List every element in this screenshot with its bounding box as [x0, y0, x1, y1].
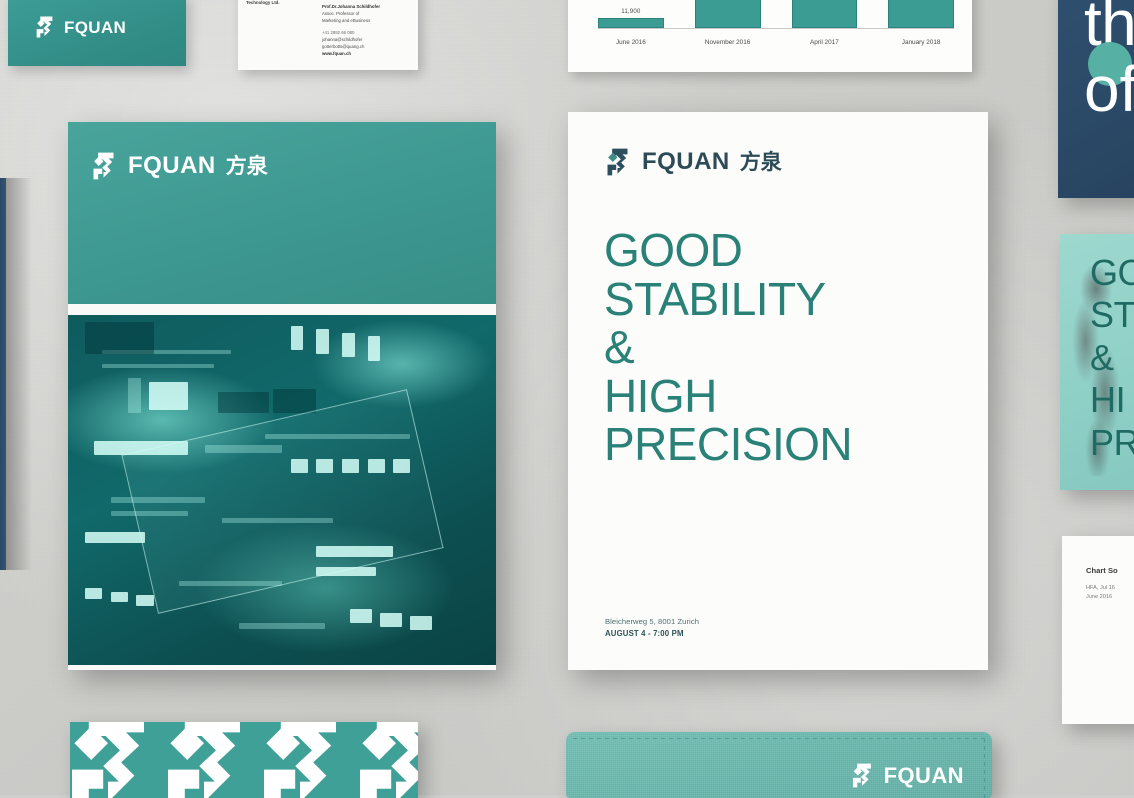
chart-bar: [888, 0, 954, 28]
fquan-logo-mark-icon: [252, 722, 348, 798]
document-subtitle-line: HFA, Jul 16: [1086, 584, 1115, 593]
stitch-line-top: [573, 738, 985, 739]
stitch-line-right: [984, 738, 985, 798]
chart-column: 34,000: [695, 0, 761, 28]
chart-column: [888, 0, 954, 28]
business-card-company: Technology Ltd.: [246, 0, 280, 7]
poster-date: AUGUST 4 - 7:00 PM: [605, 629, 699, 638]
chart-category-label: April 2017: [792, 39, 858, 46]
logo-pattern-repeat: [70, 722, 418, 798]
logo-wordmark: FQUAN: [884, 765, 964, 787]
business-card-details: Prof.Dr.Johanna Schildhofer Assoc. Profe…: [322, 4, 380, 58]
fquan-logo-mark-icon: [348, 722, 418, 798]
poster-address: Bleicherweg 5, 8001 Zurich: [605, 616, 699, 627]
business-card-website: www.fquan.ch: [322, 51, 380, 58]
chart-bar: [598, 18, 664, 28]
logo-wordmark-cn: 方泉: [740, 152, 782, 173]
teal-poster-headline-line: GO: [1090, 252, 1134, 294]
bar-chart: 11,900 34,000 June 2016 November 2016 Ap…: [598, 0, 954, 50]
document-subtitle: HFA, Jul 16 June 2016: [1086, 584, 1115, 602]
teal-poster-headline-line: ST: [1090, 294, 1134, 336]
poster-footer: Bleicherweg 5, 8001 Zurich AUGUST 4 - 7:…: [605, 616, 699, 638]
logo-wordmark-cn: 方泉: [226, 156, 268, 177]
brochure-header-band: [68, 122, 496, 304]
logo-lockup: FQUAN: [850, 763, 964, 788]
poster-headline-line: GOOD: [604, 226, 966, 275]
navy-edge-panel: [0, 178, 6, 570]
navy-poster-panel: th of: [1058, 0, 1134, 198]
chart-category-label: January 2018: [888, 39, 954, 46]
chart-column: 11,900: [598, 0, 664, 28]
chart-report-sheet: 11,900 34,000 June 2016 November 2016 Ap…: [568, 0, 972, 72]
navy-panel-line-2: of: [1084, 62, 1134, 117]
chart-category-label: November 2016: [695, 39, 761, 46]
logo-wordmark: FQUAN: [128, 154, 216, 178]
poster-headline-line: HIGH: [604, 372, 966, 421]
chart-column: [792, 0, 858, 28]
fquan-logo-mark-icon: [156, 722, 252, 798]
chart-category-label: June 2016: [598, 39, 664, 46]
business-card: Technology Ltd. Prof.Dr.Johanna Schildho…: [238, 0, 418, 70]
poster-headline-line: &: [604, 323, 966, 372]
chart-bar: [792, 0, 858, 28]
business-card-person-title-2: Marketing and eBusiness: [322, 18, 380, 25]
poster-headline: GOOD STABILITY & HIGH PRECISION: [604, 226, 966, 469]
business-card-contact-2: johanna@schildhofer: [322, 37, 380, 44]
event-poster: FQUAN 方泉 GOOD STABILITY & HIGH PRECISION…: [568, 112, 988, 670]
logo-lockup: FQUAN 方泉: [604, 148, 782, 176]
teal-poster-headline-line: HI: [1090, 379, 1134, 421]
business-card-person-title-1: Assoc. Professor of: [322, 11, 380, 18]
brochure-cover: FQUAN 方泉: [68, 122, 496, 670]
logo-wordmark: FQUAN: [64, 19, 126, 36]
fquan-logo-mark-icon: [850, 763, 874, 788]
pattern-card: [70, 722, 418, 798]
teal-poster-headline-line: PR: [1090, 422, 1134, 464]
chart-category-labels: June 2016 November 2016 April 2017 Janua…: [598, 39, 954, 46]
poster-headline-line: STABILITY: [604, 275, 966, 324]
fquan-logo-mark-icon: [604, 148, 631, 176]
teal-poster-variant: GO ST & HI PR: [1060, 234, 1134, 490]
business-card-contact-3: gotterbotts@quang.ch: [322, 44, 380, 51]
teal-poster-headline-line: &: [1090, 337, 1134, 379]
business-card-contact-1: +41 2892 66 080: [322, 30, 380, 37]
poster-headline-line: PRECISION: [604, 420, 966, 469]
teal-poster-headline: GO ST & HI PR: [1090, 252, 1134, 464]
fquan-logo-mark-icon: [34, 16, 55, 38]
fquan-logo-mark-icon: [90, 152, 117, 180]
chart-x-axis-line: [598, 28, 954, 29]
chart-value-label: 11,900: [621, 8, 640, 15]
document-subtitle-line: June 2016: [1086, 593, 1115, 602]
chart-bar: [695, 0, 761, 28]
teal-logo-card: FQUAN: [8, 0, 186, 66]
business-card-person-name: Prof.Dr.Johanna Schildhofer: [322, 4, 380, 11]
chart-plot-area: 11,900 34,000: [598, 0, 954, 28]
teal-fabric-folder: FQUAN: [566, 732, 992, 798]
logo-lockup: FQUAN: [34, 16, 186, 38]
document-title: Chart So: [1086, 566, 1118, 575]
fquan-logo-mark-icon: [70, 722, 156, 798]
circuit-board-photo: [68, 315, 496, 665]
chart-source-document: Chart So HFA, Jul 16 June 2016: [1062, 536, 1134, 724]
logo-wordmark: FQUAN: [642, 150, 730, 174]
logo-lockup: FQUAN 方泉: [90, 152, 268, 180]
